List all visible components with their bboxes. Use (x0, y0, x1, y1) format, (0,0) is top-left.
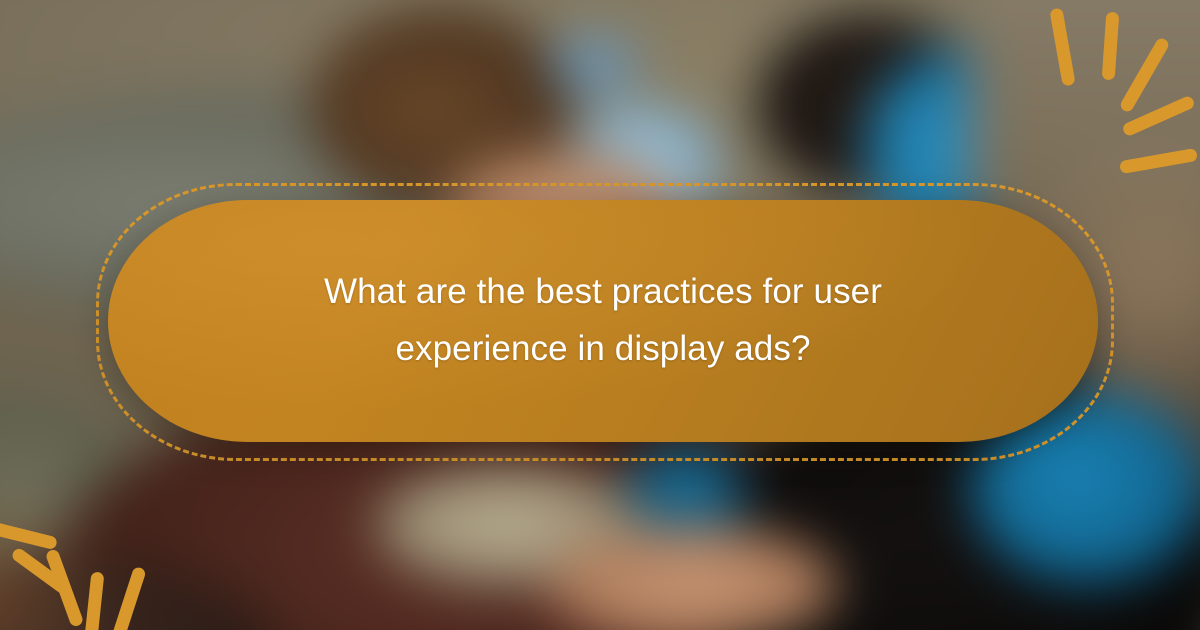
background-person-left-headband (547, 38, 639, 91)
question-text: What are the best practices for user exp… (283, 264, 923, 377)
share-card-canvas: What are the best practices for user exp… (0, 0, 1200, 630)
question-card: What are the best practices for user exp… (108, 200, 1098, 442)
